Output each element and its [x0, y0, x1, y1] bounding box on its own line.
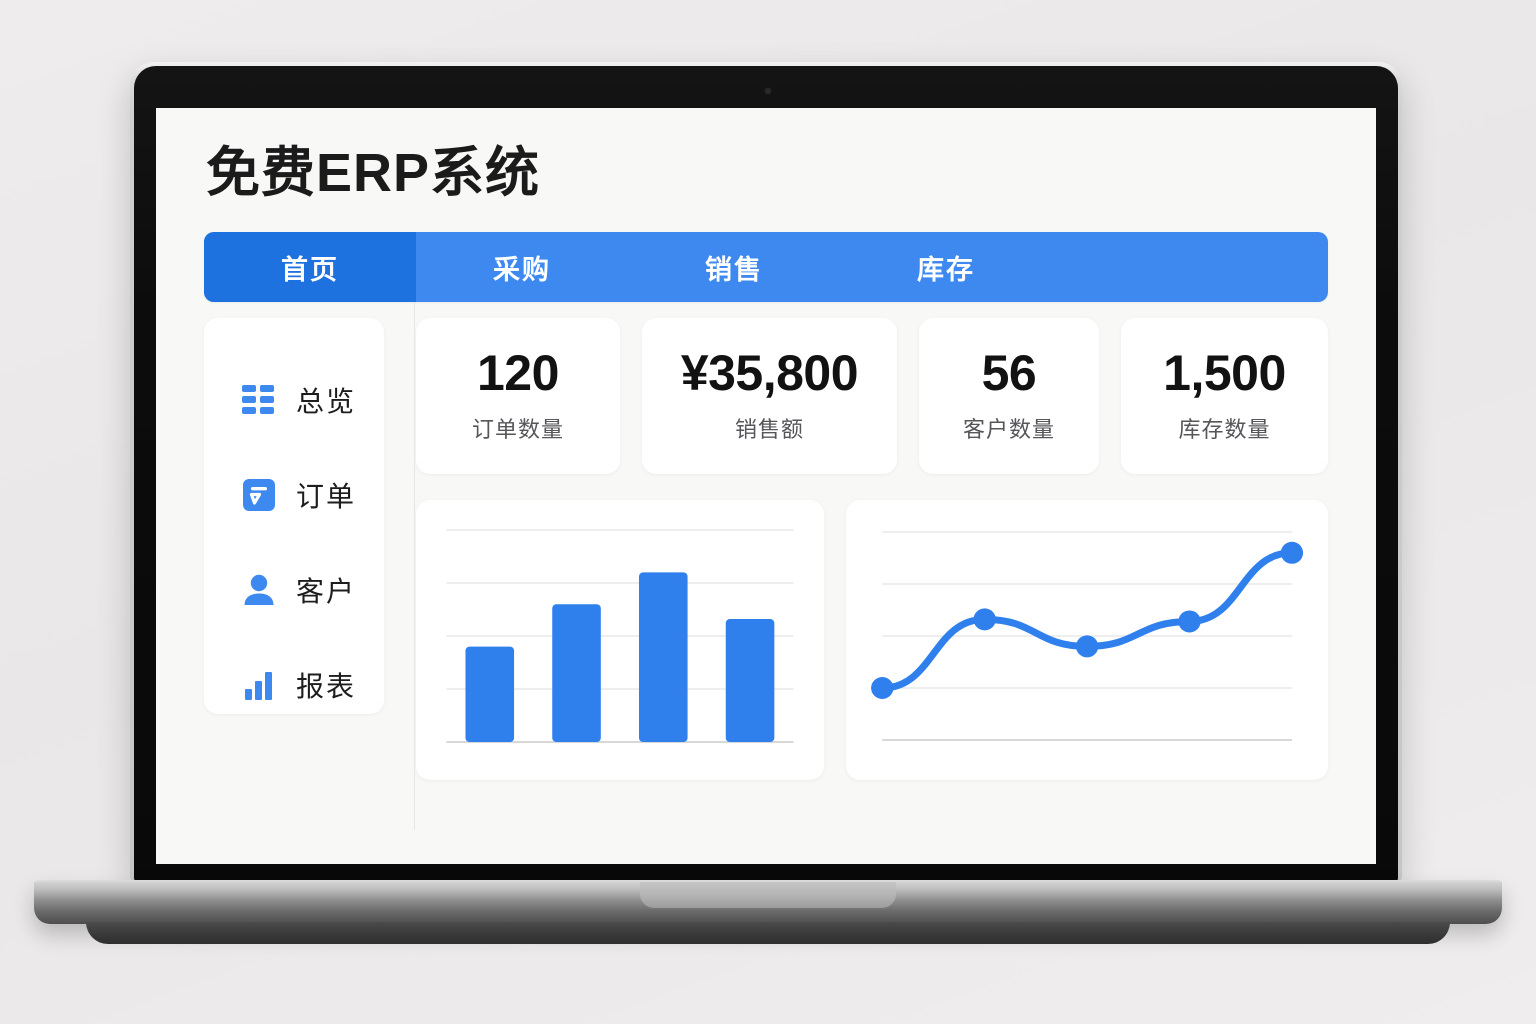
nav-tab-home[interactable]: 首页 — [204, 232, 416, 302]
dashboard-main: 120 订单数量 ¥35,800 销售额 56 客户数量 1,500 — [384, 318, 1328, 780]
line-chart-card[interactable] — [846, 500, 1328, 780]
page-title: 免费ERP系统 — [206, 146, 1328, 200]
nav-tab-sales-label: 销售 — [705, 248, 763, 287]
grid-icon — [240, 381, 278, 419]
sidebar-item-orders-label: 订单 — [296, 475, 356, 515]
stat-card-sales-value: ¥35,800 — [681, 348, 858, 398]
sidebar-item-customers[interactable]: 客户 — [204, 542, 384, 637]
nav-tab-home-label: 首页 — [281, 248, 339, 287]
stat-card-inventory[interactable]: 1,500 库存数量 — [1121, 318, 1328, 474]
stat-card-customers-label: 客户数量 — [963, 412, 1055, 444]
stat-card-orders-value: 120 — [477, 348, 559, 398]
page-root: 免费ERP系统 首页 采购 销售 库存 — [0, 0, 1536, 1024]
line-chart — [864, 516, 1310, 764]
sidebar-item-reports[interactable]: 报表 — [204, 637, 384, 732]
nav-tab-inventory-label: 库存 — [917, 248, 975, 287]
nav-tab-purchase-label: 采购 — [493, 248, 551, 287]
sidebar-item-overview-label: 总览 — [296, 380, 356, 420]
stat-card-orders[interactable]: 120 订单数量 — [416, 318, 620, 474]
laptop-base-notch — [640, 882, 896, 908]
bar-chart-card[interactable] — [416, 500, 824, 780]
nav-tab-purchase[interactable]: 采购 — [416, 232, 628, 302]
stat-card-inventory-label: 库存数量 — [1178, 412, 1270, 444]
sidebar-item-overview[interactable]: 总览 — [204, 352, 384, 447]
stat-card-inventory-value: 1,500 — [1163, 348, 1286, 398]
erp-dashboard-app: 免费ERP系统 首页 采购 销售 库存 — [156, 108, 1376, 864]
laptop-screen: 免费ERP系统 首页 采购 销售 库存 — [156, 108, 1376, 864]
bar-chart-icon — [240, 666, 278, 704]
sidebar-item-reports-label: 报表 — [296, 665, 356, 705]
stat-card-sales-label: 销售额 — [735, 412, 804, 444]
stat-card-orders-label: 订单数量 — [472, 412, 564, 444]
stat-card-customers-value: 56 — [982, 348, 1037, 398]
webcam-icon — [765, 88, 771, 94]
nav-tab-inventory[interactable]: 库存 — [840, 232, 1052, 302]
user-icon — [240, 571, 278, 609]
stat-card-sales[interactable]: ¥35,800 销售额 — [642, 318, 897, 474]
sidebar-item-orders[interactable]: 订单 — [204, 447, 384, 542]
stat-card-customers[interactable]: 56 客户数量 — [919, 318, 1099, 474]
sidebar: 总览 订单 — [204, 318, 384, 714]
sidebar-item-customers-label: 客户 — [296, 570, 356, 610]
bar-chart — [434, 516, 806, 764]
sidebar-divider — [414, 302, 415, 830]
nav-tab-sales[interactable]: 销售 — [628, 232, 840, 302]
document-icon — [240, 476, 278, 514]
dashboard-body: 总览 订单 — [204, 318, 1328, 780]
main-navigation: 首页 采购 销售 库存 — [204, 232, 1328, 302]
laptop-base-underside — [86, 922, 1450, 944]
stat-cards-row: 120 订单数量 ¥35,800 销售额 56 客户数量 1,500 — [416, 318, 1328, 474]
charts-row — [416, 500, 1328, 780]
